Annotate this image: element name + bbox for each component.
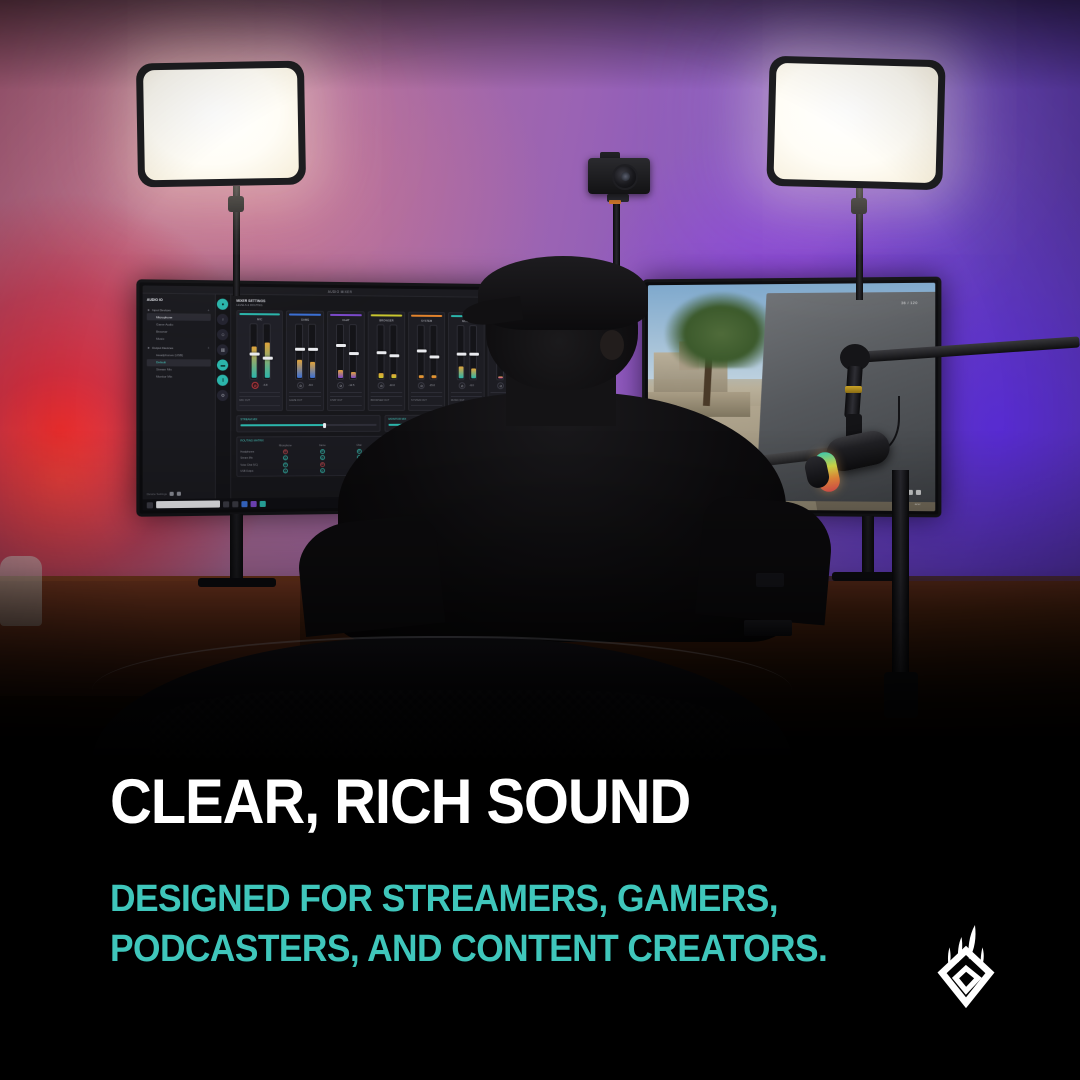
channel-controls: ⊘-6.8 [239,382,280,389]
channel-name: CHAT [330,318,362,322]
channel-controls: ⊘-15.0 [411,382,442,389]
sidebar-item-stream-mix[interactable]: Stream Mix [147,366,211,373]
desk-device [744,620,792,636]
sidebar-footer-label: Device Settings [147,492,167,496]
sidebar-item-music[interactable]: Music [147,335,211,343]
channel-faders [411,325,442,381]
profile-icon[interactable]: ● [217,299,228,310]
matrix-toggle-icon[interactable]: ⊘ [320,468,325,473]
chevron-right-icon [148,309,150,311]
mixer-channel-strip[interactable]: CHAT⊘-12.5CHAT OUT [327,311,365,411]
headset-icon[interactable]: ☺ [217,329,228,340]
matrix-toggle-icon[interactable]: ⊘ [283,462,288,467]
left-monitor-stand [230,514,243,584]
camera-lens [612,164,638,190]
channel-fader-left[interactable] [416,325,424,381]
channel-db-value: -10.0 [389,384,395,387]
mixer-channel-strips: MIC⊘-6.8MIC OUTGAME⊘-8.0GAME OUTCHAT⊘-12… [236,310,524,411]
channel-name: GAME [289,318,321,322]
matrix-toggle-icon[interactable]: ⊘ [283,455,288,460]
sidebar-group-inputs: Input Devices + Microphone Game Audio Br… [147,306,211,342]
channel-controls: ⊘-12.5 [330,382,362,389]
matrix-row-label: Headphones [240,450,266,453]
sidebar-item-monitor-mix[interactable]: Monitor Mix [147,373,211,380]
channel-footer: CHAT OUT [330,392,362,406]
desk-prop-left [0,556,42,626]
channel-footer: GAME OUT [289,392,321,406]
start-icon[interactable] [147,502,153,508]
stream-mix-title: STREAM MIX [240,418,376,421]
channel-db-value: -8.0 [308,384,313,387]
channel-controls: ⊘-6.0 [451,382,482,389]
matrix-toggle-icon[interactable]: ⊘ [320,462,325,467]
folder-icon[interactable] [232,501,238,507]
right-monitor-stand [862,516,874,578]
channel-footer: MIC OUT [239,392,280,406]
matrix-cell[interactable]: ⊘ [267,455,304,460]
channel-mute-button[interactable]: ⊘ [418,382,425,389]
add-icon[interactable]: + [207,308,209,312]
chevron-right-icon [148,347,150,349]
matrix-row-label: Stream Mix [240,456,266,459]
mic-icon[interactable]: ♀ [217,314,228,325]
channel-name: SYSTEM [411,319,442,323]
mixer-channel-strip[interactable]: SYSTEM⊘-15.0SYSTEM OUT [408,312,445,411]
channel-db-value: -6.0 [469,384,473,387]
channel-db-value: -15.0 [429,384,435,387]
mixer-app-icon[interactable] [260,500,266,506]
banner-subtitle-line-1: DESIGNED FOR STREAMERS, GAMERS, [110,874,910,924]
person-right-arm [695,495,835,626]
mic-desk-clamp [884,672,918,718]
matrix-cell[interactable]: ⊘ [267,449,304,454]
mic-boom-stand [892,470,909,680]
mixer-channel-strip[interactable]: MIC⊘-6.8MIC OUT [236,310,283,411]
sidebar-group-label: Output Devices [152,346,173,350]
mixer-icon[interactable]: ▬ [217,359,228,370]
stream-mix-slider[interactable] [240,424,376,426]
app-title: AUDIO MIXER [328,289,352,293]
channel-mute-button[interactable]: ⊘ [378,382,385,389]
channel-color-bar [330,314,362,316]
channel-mute-button[interactable]: ⊘ [252,382,259,389]
channel-color-bar [371,314,402,316]
banner-subtitle: DESIGNED FOR STREAMERS, GAMERS, PODCASTE… [110,874,910,974]
app-icon-rail: ● ♀ ☺ ▦ ▬ ‖ ⚙ [216,295,232,499]
channel-mute-button[interactable]: ⊘ [459,382,466,389]
channel-fader-left[interactable] [456,325,464,380]
sidebar-group-outputs: Output Devices + Headphones (USB) Defaul… [147,344,211,380]
channel-fader-right[interactable] [348,324,356,380]
sidebar-group-header[interactable]: Output Devices + [147,344,211,351]
mixer-channel-strip[interactable]: MUSIC⊘-6.0MUSIC OUT [448,312,485,411]
channel-color-bar [289,313,321,315]
channel-fader-right[interactable] [389,324,397,380]
brand-flame-diamond-logo [928,922,1004,1008]
chat-app-icon[interactable] [251,500,257,506]
task-view-icon[interactable] [223,501,229,507]
game-hud-ammo: 36 / 120 [901,301,917,305]
matrix-toggle-icon[interactable]: ⊘ [320,449,325,454]
left-monitor-base [198,578,276,587]
led-panel-light-right [766,56,945,191]
sidebar-item-headphones[interactable]: Headphones (USB) [147,351,211,358]
matrix-cell[interactable]: ⊘ [267,462,304,467]
camera-mount-lever [609,200,621,204]
channel-name: MIC [239,317,280,321]
matrix-cell[interactable]: ⊘ [304,448,341,453]
light-head-right [851,198,867,214]
matrix-row-label: USB Output [240,470,266,473]
channel-route-label: BROWSER OUT [371,399,402,402]
matrix-row-label: Voice Chat (VC) [240,463,266,466]
channel-mute-button[interactable]: ⊘ [297,382,304,389]
channel-controls: ⊘-10.0 [371,382,402,389]
matrix-toggle-icon[interactable]: ⊘ [283,468,288,473]
sidebar-item-default[interactable]: Default [147,359,211,366]
matrix-cell[interactable]: ⊘ [304,468,341,473]
taskbar-search-input[interactable] [156,500,220,508]
channel-faders [289,324,321,380]
gear-icon[interactable] [177,492,181,496]
sidebar-title: AUDIO IO [147,298,211,303]
channel-fader-right[interactable] [262,323,270,380]
channel-route-label: SYSTEM OUT [411,399,442,402]
mic-boom-gold-collar [845,386,862,393]
matrix-toggle-icon[interactable]: ⊘ [283,449,288,454]
channel-fader-right[interactable] [429,325,437,380]
channel-fader-right[interactable] [308,324,316,380]
channel-mute-button[interactable]: ⊘ [498,382,505,389]
channel-mute-button[interactable]: ⊘ [337,382,344,389]
channel-fader-left[interactable] [249,323,257,380]
sidebar-group-label: Input Devices [152,308,171,312]
matrix-column-header: Game [304,444,341,447]
stream-mix-panel: STREAM MIX [236,415,380,432]
channel-route-label: GAME OUT [289,399,321,402]
banner-copy: CLEAR, RICH SOUND DESIGNED FOR STREAMERS… [110,770,970,975]
monitor-brand-label: acer [915,502,921,506]
channel-controls: ⊘-8.0 [289,382,321,389]
game-tree-canopy [665,291,779,368]
matrix-cell[interactable]: ⊘ [304,455,341,460]
mixer-channel-strip[interactable]: BROWSER⊘-10.0BROWSER OUT [368,311,405,411]
matrix-toggle-icon[interactable]: ⊘ [320,455,325,460]
channel-name: BROWSER [371,318,402,322]
add-icon[interactable]: + [207,346,209,350]
channel-faders [451,325,482,380]
browser-icon[interactable] [241,501,247,507]
page-title: CLEAR, RICH SOUND [110,770,901,834]
channel-color-bar [239,313,280,315]
channel-faders [239,323,280,380]
channel-fader-left[interactable] [376,324,384,380]
channel-route-label: CHAT OUT [330,399,362,402]
brand-logo-icon [928,922,1004,1008]
person-ear [600,330,624,360]
channel-footer: BROWSER OUT [371,392,402,405]
sidebar-footer[interactable]: Device Settings [147,492,182,496]
matrix-cell[interactable]: ⊘ [304,461,341,466]
channel-faders [330,324,362,380]
light-head-left [228,196,244,212]
settings-icon[interactable]: ⚙ [217,390,228,401]
channel-fader-left[interactable] [295,324,303,380]
channel-fader-right[interactable] [469,325,477,380]
channel-db-value: -6.8 [263,384,268,387]
matrix-column-header: Microphone [267,444,304,447]
channel-faders [371,324,402,380]
channel-footer: SYSTEM OUT [411,392,442,405]
levels-icon[interactable]: ‖ [217,375,228,386]
mixer-channel-strip[interactable]: GAME⊘-8.0GAME OUT [286,310,324,411]
app-sidebar: AUDIO IO Input Devices + Microphone Game… [143,294,216,500]
channel-color-bar [411,315,442,317]
banner-subtitle-line-2: PODCASTERS, AND CONTENT CREATORS. [110,924,910,974]
channel-fader-left[interactable] [336,324,344,380]
desk-device-small [756,573,784,587]
channel-route-label: MIC OUT [239,399,280,402]
channel-db-value: -12.5 [348,384,354,387]
led-panel-light-left [136,61,306,188]
speaker-icon[interactable] [170,492,174,496]
grid-icon[interactable]: ▦ [217,344,228,355]
matrix-cell[interactable]: ⊘ [267,468,304,473]
